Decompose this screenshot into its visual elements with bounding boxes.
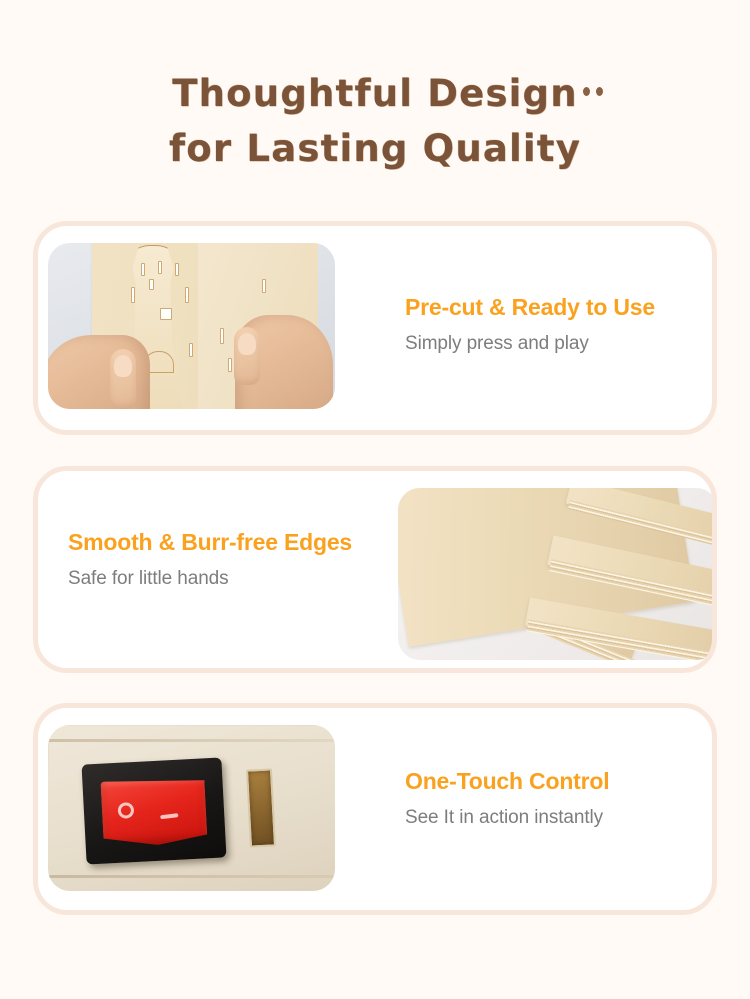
cut-slot <box>158 261 162 274</box>
heading-line-1-text: Thoughtful Design <box>172 72 578 115</box>
feature-card-one-touch[interactable]: One-Touch Control See It in action insta… <box>33 703 717 915</box>
cut-slot <box>220 328 224 344</box>
page-heading: Thoughtful Design for Lasting Quality <box>0 66 750 176</box>
diaeresis-accent-icon <box>583 87 607 99</box>
feature-title: One-Touch Control <box>405 766 609 796</box>
switch-bezel <box>81 757 226 864</box>
feature-text-smooth-edges: Smooth & Burr-free Edges Safe for little… <box>68 527 352 592</box>
cut-slot <box>262 279 266 293</box>
feature-image-pre-cut <box>48 243 335 409</box>
wood-slot-cutout <box>246 768 276 847</box>
left-thumb-nail <box>114 355 132 377</box>
heading-line-2: for Lasting Quality <box>0 121 750 176</box>
wood-seam <box>48 875 335 878</box>
cut-slot <box>149 279 154 290</box>
cut-slot <box>160 308 172 320</box>
power-on-icon <box>117 802 135 820</box>
feature-text-pre-cut: Pre-cut & Ready to Use Simply press and … <box>405 292 655 357</box>
power-off-icon <box>160 813 178 819</box>
feature-subtitle: Simply press and play <box>405 331 655 357</box>
cut-slot <box>228 358 232 372</box>
cut-slot <box>189 343 193 357</box>
cut-slot <box>175 263 179 276</box>
feature-card-pre-cut[interactable]: Pre-cut & Ready to Use Simply press and … <box>33 221 717 435</box>
cut-slot <box>185 287 189 303</box>
feature-image-smooth-edges <box>398 488 717 660</box>
heading-line-1: Thoughtful Design <box>0 66 750 121</box>
feature-image-one-touch <box>48 725 335 891</box>
feature-text-one-touch: One-Touch Control See It in action insta… <box>405 766 609 831</box>
feature-subtitle: See It in action instantly <box>405 805 609 831</box>
feature-title: Smooth & Burr-free Edges <box>68 527 352 557</box>
feature-subtitle: Safe for little hands <box>68 566 352 592</box>
feature-card-smooth-edges[interactable]: Smooth & Burr-free Edges Safe for little… <box>33 466 717 673</box>
feature-title: Pre-cut & Ready to Use <box>405 292 655 322</box>
wood-seam <box>48 739 335 742</box>
rocker-switch[interactable] <box>100 776 207 847</box>
right-thumb-nail <box>238 333 256 355</box>
cut-slot <box>131 287 135 303</box>
cut-slot <box>141 263 145 276</box>
